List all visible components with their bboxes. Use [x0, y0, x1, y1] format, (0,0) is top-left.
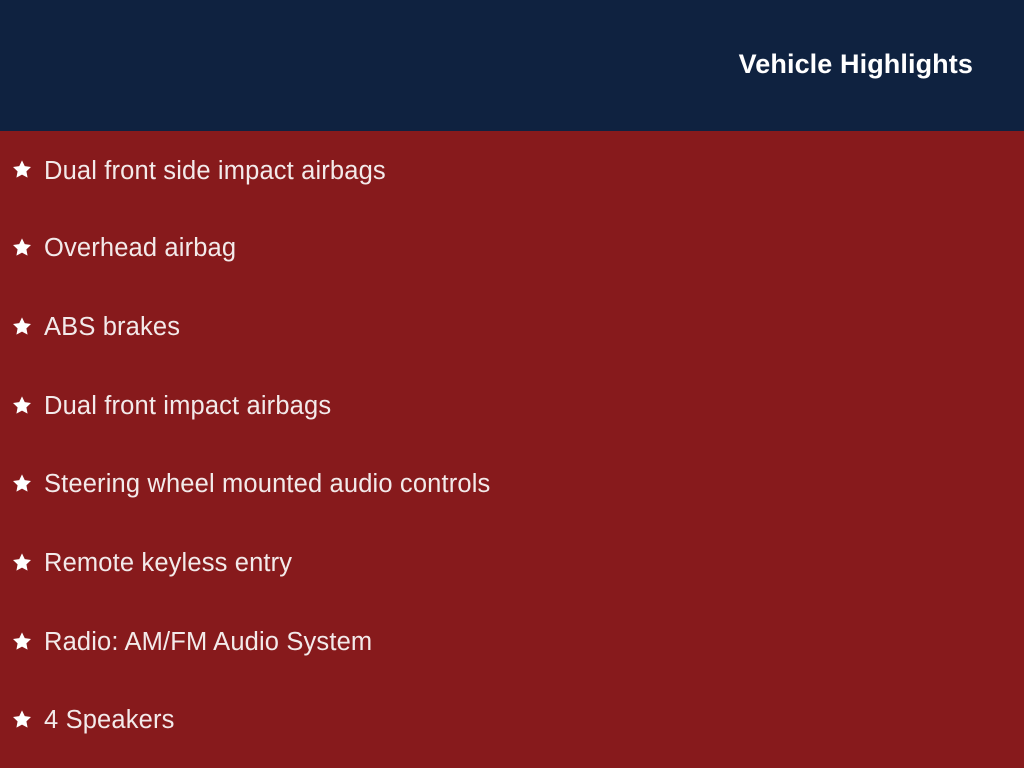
- list-item: Steering wheel mounted audio controls: [0, 445, 1024, 524]
- list-item-label: Dual front side impact airbags: [44, 156, 386, 186]
- body-band: Dual front side impact airbags Overhead …: [0, 131, 1024, 768]
- list-item: 4 Speakers: [0, 681, 1024, 760]
- list-item: Remote keyless entry: [0, 524, 1024, 603]
- list-item: Dual front impact airbags: [0, 366, 1024, 445]
- list-item-label: Overhead airbag: [44, 233, 236, 263]
- vehicle-highlights-slide: Vehicle Highlights Dual front side impac…: [0, 0, 1024, 768]
- star-icon: [12, 316, 34, 338]
- header-band: Vehicle Highlights: [0, 0, 1024, 131]
- list-item-label: Radio: AM/FM Audio System: [44, 627, 372, 657]
- list-item-label: Steering wheel mounted audio controls: [44, 469, 490, 499]
- vehicle-features-list: Dual front side impact airbags Overhead …: [0, 131, 1024, 760]
- list-item-label: 4 Speakers: [44, 705, 175, 735]
- star-icon: [12, 473, 34, 495]
- list-item: Dual front side impact airbags: [0, 131, 1024, 209]
- list-item: Overhead airbag: [0, 209, 1024, 288]
- star-icon: [12, 159, 34, 181]
- star-icon: [12, 237, 34, 259]
- list-item-label: Dual front impact airbags: [44, 391, 331, 421]
- list-item: ABS brakes: [0, 288, 1024, 367]
- page-title: Vehicle Highlights: [739, 47, 973, 81]
- star-icon: [12, 395, 34, 417]
- star-icon: [12, 631, 34, 653]
- star-icon: [12, 709, 34, 731]
- list-item-label: Remote keyless entry: [44, 548, 292, 578]
- list-item-label: ABS brakes: [44, 312, 180, 342]
- list-item: Radio: AM/FM Audio System: [0, 602, 1024, 681]
- star-icon: [12, 552, 34, 574]
